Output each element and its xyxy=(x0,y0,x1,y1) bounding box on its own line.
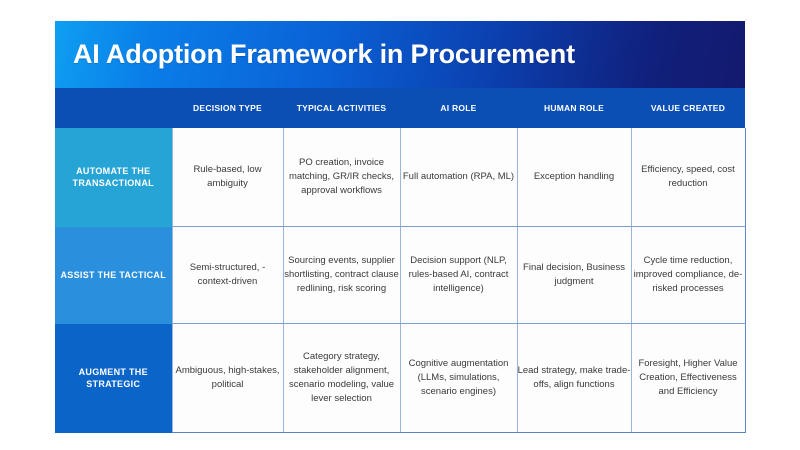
framework-matrix-table: DECISION TYPE TYPICAL ACTIVITIES AI ROLE… xyxy=(55,88,746,433)
header-corner-cell xyxy=(55,88,172,128)
cell-augment-decision-type: Ambiguous, high-stakes, political xyxy=(172,324,283,433)
cell-augment-ai-role: Cognitive augmentation (LLMs, simulation… xyxy=(400,324,517,433)
cell-automate-decision-type: Rule-based, low ambiguity xyxy=(172,128,283,227)
column-header-human-role: HUMAN ROLE xyxy=(517,88,631,128)
column-header-ai-role: AI ROLE xyxy=(400,88,517,128)
column-header-typical-activities: TYPICAL ACTIVITIES xyxy=(283,88,400,128)
table-row: AUGMENT THE STRATEGIC Ambiguous, high-st… xyxy=(55,324,745,433)
cell-automate-human-role: Exception handling xyxy=(517,128,631,227)
row-label-assist-the-tactical: ASSIST THE TACTICAL xyxy=(55,227,172,324)
cell-assist-human-role: Final decision, Business judgment xyxy=(517,227,631,324)
cell-assist-ai-role: Decision support (NLP, rules-based AI, c… xyxy=(400,227,517,324)
cell-augment-value-created: Foresight, Higher Value Creation, Effect… xyxy=(631,324,745,433)
row-label-augment-the-strategic: AUGMENT THE STRATEGIC xyxy=(55,324,172,433)
cell-automate-ai-role: Full automation (RPA, ML) xyxy=(400,128,517,227)
cell-automate-value-created: Efficiency, speed, cost reduction xyxy=(631,128,745,227)
page-title: AI Adoption Framework in Procurement xyxy=(73,39,575,70)
title-banner: AI Adoption Framework in Procurement xyxy=(55,21,745,88)
cell-assist-value-created: Cycle time reduction, improved complianc… xyxy=(631,227,745,324)
table-row: ASSIST THE TACTICAL Semi-structured, - c… xyxy=(55,227,745,324)
column-header-decision-type: DECISION TYPE xyxy=(172,88,283,128)
slide-canvas: AI Adoption Framework in Procurement DEC… xyxy=(0,0,800,450)
table-row: AUTOMATE THE TRANSACTIONAL Rule-based, l… xyxy=(55,128,745,227)
cell-augment-typical-activities: Category strategy, stakeholder alignment… xyxy=(283,324,400,433)
row-label-automate-the-transactional: AUTOMATE THE TRANSACTIONAL xyxy=(55,128,172,227)
column-header-value-created: VALUE CREATED xyxy=(631,88,745,128)
cell-automate-typical-activities: PO creation, invoice matching, GR/IR che… xyxy=(283,128,400,227)
table-header-row: DECISION TYPE TYPICAL ACTIVITIES AI ROLE… xyxy=(55,88,745,128)
cell-augment-human-role: Lead strategy, make trade-offs, align fu… xyxy=(517,324,631,433)
cell-assist-decision-type: Semi-structured, - context-driven xyxy=(172,227,283,324)
cell-assist-typical-activities: Sourcing events, supplier shortlisting, … xyxy=(283,227,400,324)
